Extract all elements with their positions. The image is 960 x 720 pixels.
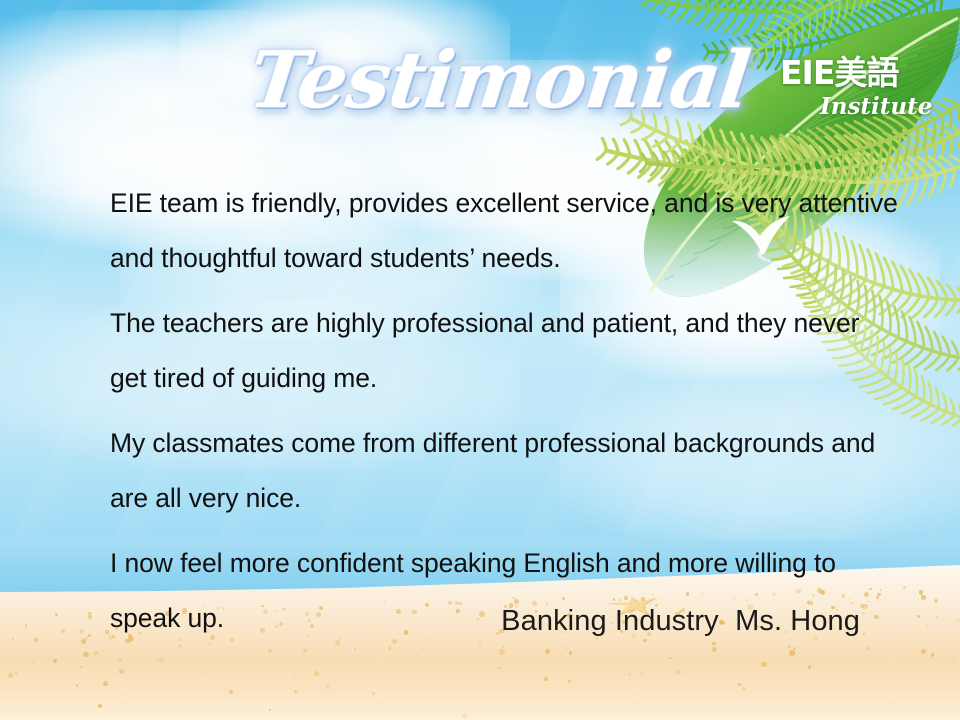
testimonial-body: EIE team is friendly, provides excellent… bbox=[110, 176, 900, 656]
testimonial-paragraph: The teachers are highly professional and… bbox=[110, 296, 900, 406]
testimonial-slide: Testimonial EIE美語 Institute EIE team is … bbox=[0, 0, 960, 720]
testimonial-paragraph: My classmates come from different profes… bbox=[110, 416, 900, 526]
eie-logo: EIE美語 Institute bbox=[780, 56, 955, 118]
testimonial-attribution: Banking Industry Ms. Hong bbox=[0, 605, 860, 638]
testimonial-paragraph: EIE team is friendly, provides excellent… bbox=[110, 176, 900, 286]
logo-primary-text: EIE美語 bbox=[780, 56, 955, 89]
page-title: Testimonial bbox=[245, 42, 715, 120]
logo-secondary-text: Institute bbox=[820, 95, 955, 118]
